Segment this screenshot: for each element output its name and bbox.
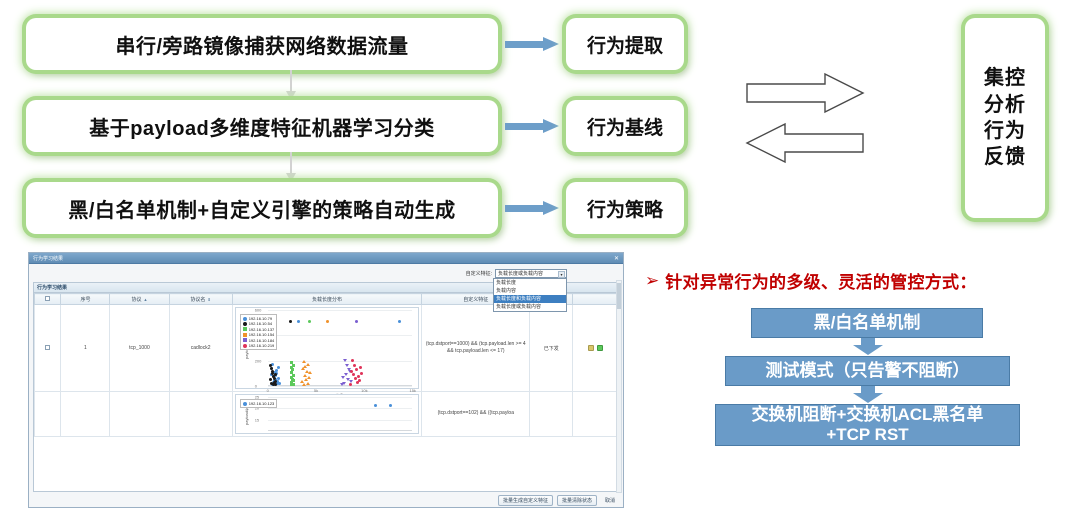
data-point bbox=[275, 369, 278, 372]
legend-marker-icon bbox=[243, 327, 247, 331]
y-axis-tick: 0 bbox=[255, 384, 257, 389]
dropdown-option-1[interactable]: 负载内容 bbox=[494, 287, 566, 295]
col-protocol-label: 协议 bbox=[131, 297, 141, 303]
data-point bbox=[360, 372, 363, 375]
data-point bbox=[349, 383, 352, 386]
cancel-button[interactable]: 取消 bbox=[601, 496, 619, 505]
col-protocol[interactable]: 协议▲ bbox=[110, 294, 169, 305]
data-point bbox=[308, 371, 312, 374]
app-window: 行为学习结果 ✕ 自定义特征: 负载长度或负载内容 ▾ 负载长度 负载内容 负载… bbox=[28, 252, 624, 508]
row-actions-2 bbox=[573, 392, 618, 437]
row-index: 1 bbox=[61, 305, 110, 392]
data-point bbox=[341, 376, 345, 379]
data-point bbox=[303, 374, 307, 377]
hollow-arrow-left-icon bbox=[745, 122, 865, 164]
flow-step-side-1: 行为提取 bbox=[566, 18, 684, 70]
checkbox-icon[interactable] bbox=[45, 345, 50, 350]
feedback-line-3: 行为 bbox=[984, 118, 1026, 144]
row-status-2 bbox=[530, 392, 573, 437]
legend-marker-icon bbox=[243, 344, 247, 348]
flow-step-main-3: 黑/白名单机制+自定义引擎的策略自动生成 bbox=[26, 182, 498, 234]
control-box-blacklist: 黑/白名单机制 bbox=[751, 308, 983, 338]
legend-marker-icon bbox=[243, 402, 247, 406]
feedback-line-1: 集控 bbox=[984, 65, 1026, 91]
data-point bbox=[289, 320, 292, 323]
data-point bbox=[273, 377, 276, 380]
feedback-line-2: 分析 bbox=[984, 92, 1026, 118]
data-point bbox=[351, 359, 354, 362]
flow-step-main-1: 串行/旁路镜像捕获网络数据流量 bbox=[26, 18, 498, 70]
row-custom-feature-2: (tcp.dstport==102) && ((tcp.payloa bbox=[422, 392, 530, 437]
x-axis-tick: 10k bbox=[361, 388, 367, 393]
hollow-arrow-right-icon bbox=[745, 72, 865, 114]
custom-feature-dropdown-list[interactable]: 负载长度 负载内容 负载长度和负载内容 负载长度或负载内容 bbox=[493, 278, 567, 312]
row-status: 已下发 bbox=[530, 305, 573, 392]
data-point bbox=[301, 367, 305, 370]
chevron-down-icon[interactable]: ▾ bbox=[558, 271, 565, 278]
data-point bbox=[292, 383, 295, 386]
data-point bbox=[357, 375, 360, 378]
data-point bbox=[306, 382, 310, 385]
data-point bbox=[302, 383, 306, 386]
process-flow-diagram: 串行/旁路镜像捕获网络数据流量 行为提取 基于payload多维度特征机器学习分… bbox=[0, 0, 1080, 248]
dropdown-option-2[interactable]: 负载长度和负载内容 bbox=[494, 295, 566, 303]
x-axis-tick: 15k bbox=[409, 388, 415, 393]
col-custom-feature-label: 自定义特征 bbox=[463, 297, 488, 303]
row-protocol: tcp_1000 bbox=[110, 305, 169, 392]
data-point bbox=[308, 320, 311, 323]
payload-scatter-chart-1: 192.16.10.79 192.16.10.54 192.16.10.137 … bbox=[235, 307, 420, 389]
flow-connector-1 bbox=[290, 70, 292, 92]
legend-marker-icon bbox=[243, 317, 247, 321]
vertical-scrollbar[interactable] bbox=[616, 280, 622, 493]
data-point bbox=[343, 359, 347, 362]
data-point bbox=[352, 373, 355, 376]
col-payload-dist[interactable]: 负载长度分布 bbox=[232, 294, 422, 305]
row-actions bbox=[573, 305, 618, 392]
batch-clear-status-button[interactable]: 批量清除状态 bbox=[557, 495, 597, 506]
feedback-line-4: 反馈 bbox=[984, 144, 1026, 170]
scatter-plot-area-1: payload长度 次数 020040060005k10k15k bbox=[268, 310, 413, 386]
legend-label: 192.16.10.219 bbox=[249, 343, 275, 348]
app-footer-toolbar: 批量生成自定义特征 批量清除状态 取消 bbox=[33, 495, 619, 506]
data-point bbox=[306, 363, 310, 366]
checkbox-icon[interactable] bbox=[45, 296, 50, 301]
row-checkbox-cell[interactable] bbox=[35, 392, 61, 437]
table-row[interactable]: 1 tcp_1000 cadlock2 192.16.10.79 192.16.… bbox=[35, 305, 618, 392]
data-point bbox=[398, 320, 401, 323]
legend-marker-icon bbox=[243, 333, 247, 337]
data-point bbox=[355, 320, 358, 323]
data-point bbox=[359, 366, 362, 369]
chart-legend-2: 192.16.10.123 bbox=[240, 399, 278, 408]
col-payload-dist-label: 负载长度分布 bbox=[312, 297, 342, 303]
edit-icon[interactable] bbox=[588, 345, 594, 351]
custom-feature-value: 负载长度或负载内容 bbox=[498, 270, 543, 277]
col-index-label: 序号 bbox=[80, 297, 90, 303]
control-box-test-mode: 测试模式（只告警不阻断） bbox=[725, 356, 1010, 386]
control-methods-title: 针对异常行为的多级、灵活的管控方式： bbox=[665, 268, 976, 293]
custom-feature-select[interactable]: 负载长度或负载内容 ▾ bbox=[495, 269, 567, 278]
data-point bbox=[358, 379, 361, 382]
control-box-label-2: 测试模式（只告警不阻断） bbox=[766, 361, 970, 381]
data-point bbox=[297, 320, 300, 323]
sort-asc-icon[interactable]: ▲ bbox=[143, 297, 147, 302]
apply-icon[interactable] bbox=[597, 345, 603, 351]
flow-step-main-label-2: 基于payload多维度特征机器学习分类 bbox=[89, 112, 435, 141]
flow-step-side-2: 行为基线 bbox=[566, 100, 684, 152]
flow-arrow-1 bbox=[505, 37, 561, 51]
y-axis-tick: 600 bbox=[255, 308, 262, 313]
custom-feature-selector-row: 自定义特征: 负载长度或负载内容 ▾ bbox=[466, 269, 567, 278]
flow-arrow-2 bbox=[505, 119, 561, 133]
data-point bbox=[350, 370, 353, 373]
payload-scatter-chart-2: 192.16.10.123 payload长度 152025 bbox=[235, 394, 420, 434]
results-panel: 行为学习结果 序号 协议▲ 协议名⬍ 负载长度分布 自定义特征 状态 bbox=[33, 282, 619, 492]
control-box-label-1: 黑/白名单机制 bbox=[814, 313, 921, 333]
gridline bbox=[268, 408, 413, 409]
control-methods-heading: ➢ 针对异常行为的多级、灵活的管控方式： bbox=[645, 268, 977, 293]
flow-step-main-label-3: 黑/白名单机制+自定义引擎的策略自动生成 bbox=[68, 194, 455, 223]
stack-arrow-down-icon-2 bbox=[715, 386, 1020, 404]
row-checkbox-cell[interactable] bbox=[35, 305, 61, 392]
flow-step-main-label-1: 串行/旁路镜像捕获网络数据流量 bbox=[115, 30, 408, 59]
data-point bbox=[326, 320, 329, 323]
stack-arrow-down-icon-1 bbox=[715, 338, 1020, 356]
row-protocol-name bbox=[169, 392, 232, 437]
flow-step-side-3: 行为策略 bbox=[566, 182, 684, 234]
flow-connector-2 bbox=[290, 152, 292, 174]
legend-marker-icon bbox=[243, 338, 247, 342]
row-payload-chart-cell: 192.16.10.79 192.16.10.54 192.16.10.137 … bbox=[232, 305, 422, 392]
col-index[interactable]: 序号 bbox=[61, 294, 110, 305]
flow-arrow-3 bbox=[505, 201, 561, 215]
results-table: 序号 协议▲ 协议名⬍ 负载长度分布 自定义特征 状态 1 tcp_1000 bbox=[34, 293, 618, 437]
custom-feature-label: 自定义特征: bbox=[466, 270, 492, 277]
flow-step-main-2: 基于payload多维度特征机器学习分类 bbox=[26, 100, 498, 152]
batch-generate-feature-button[interactable]: 批量生成自定义特征 bbox=[498, 495, 553, 506]
control-box-label-3-line1: 交换机阻断+交换机ACL黑名单 bbox=[752, 405, 984, 425]
data-point bbox=[274, 373, 277, 376]
data-point bbox=[345, 364, 349, 367]
sort-icon[interactable]: ⬍ bbox=[207, 297, 210, 302]
col-actions bbox=[573, 294, 618, 305]
data-point bbox=[307, 376, 311, 379]
gridline bbox=[268, 397, 413, 398]
legend-marker-icon bbox=[243, 322, 247, 326]
chart-legend-1: 192.16.10.79 192.16.10.54 192.16.10.137 … bbox=[240, 314, 278, 350]
row-payload-chart-cell-2: 192.16.10.123 payload长度 152025 bbox=[232, 392, 422, 437]
legend-item: 192.16.10.123 bbox=[243, 401, 275, 406]
app-title-bar: 行为学习结果 ✕ bbox=[29, 253, 623, 264]
data-point bbox=[389, 404, 392, 407]
control-level-stack: 黑/白名单机制 测试模式（只告警不阻断） 交换机阻断+交换机ACL黑名单 +TC… bbox=[715, 308, 1020, 446]
data-point bbox=[374, 404, 377, 407]
table-row[interactable]: 192.16.10.123 payload长度 152025 (tcp.dstp… bbox=[35, 392, 618, 437]
x-axis-tick: 5k bbox=[314, 388, 318, 393]
legend-label: 192.16.10.123 bbox=[249, 401, 275, 406]
control-box-switch-block: 交换机阻断+交换机ACL黑名单 +TCP RST bbox=[715, 404, 1020, 446]
data-point bbox=[354, 377, 357, 380]
gridline bbox=[268, 420, 413, 421]
dropdown-option-3[interactable]: 负载长度或负载内容 bbox=[494, 303, 566, 311]
row-custom-feature: (tcp.dstport==1000) && (tcp.payload.len … bbox=[422, 305, 530, 392]
bullet-triangle-icon: ➢ bbox=[645, 272, 659, 289]
data-point bbox=[340, 383, 344, 386]
scrollbar-thumb[interactable] bbox=[617, 283, 621, 309]
data-point bbox=[291, 368, 294, 371]
row-index bbox=[61, 392, 110, 437]
data-point bbox=[291, 378, 294, 381]
flow-step-side-label-1: 行为提取 bbox=[587, 31, 663, 58]
data-point bbox=[292, 374, 295, 377]
x-axis-tick: 0 bbox=[267, 388, 269, 393]
gridline bbox=[268, 310, 413, 311]
y-axis-tick: 200 bbox=[255, 358, 262, 363]
col-protocol-name-label: 协议名 bbox=[190, 297, 205, 303]
flow-step-side-label-3: 行为策略 bbox=[587, 195, 663, 222]
flow-step-side-label-2: 行为基线 bbox=[587, 113, 663, 140]
data-point bbox=[277, 366, 280, 369]
data-point bbox=[292, 364, 295, 367]
dropdown-option-0[interactable]: 负载长度 bbox=[494, 279, 566, 287]
gridline bbox=[268, 386, 413, 387]
close-icon[interactable]: ✕ bbox=[614, 255, 619, 262]
data-point bbox=[353, 364, 356, 367]
gridline bbox=[268, 335, 413, 336]
row-protocol-name: cadlock2 bbox=[169, 305, 232, 392]
col-protocol-name[interactable]: 协议名⬍ bbox=[169, 294, 232, 305]
app-body: 自定义特征: 负载长度或负载内容 ▾ 负载长度 负载内容 负载长度和负载内容 负… bbox=[29, 264, 623, 508]
scatter-plot-area-2: payload长度 152025 bbox=[268, 397, 413, 431]
col-select-all[interactable] bbox=[35, 294, 61, 305]
legend-item: 192.16.10.219 bbox=[243, 343, 275, 348]
data-point bbox=[355, 368, 358, 371]
y-axis-tick: 15 bbox=[255, 417, 259, 422]
control-box-label-3-line2: +TCP RST bbox=[752, 425, 984, 445]
feedback-box: 集控 分析 行为 反馈 bbox=[965, 18, 1045, 218]
app-window-title: 行为学习结果 bbox=[33, 255, 63, 262]
row-protocol bbox=[110, 392, 169, 437]
